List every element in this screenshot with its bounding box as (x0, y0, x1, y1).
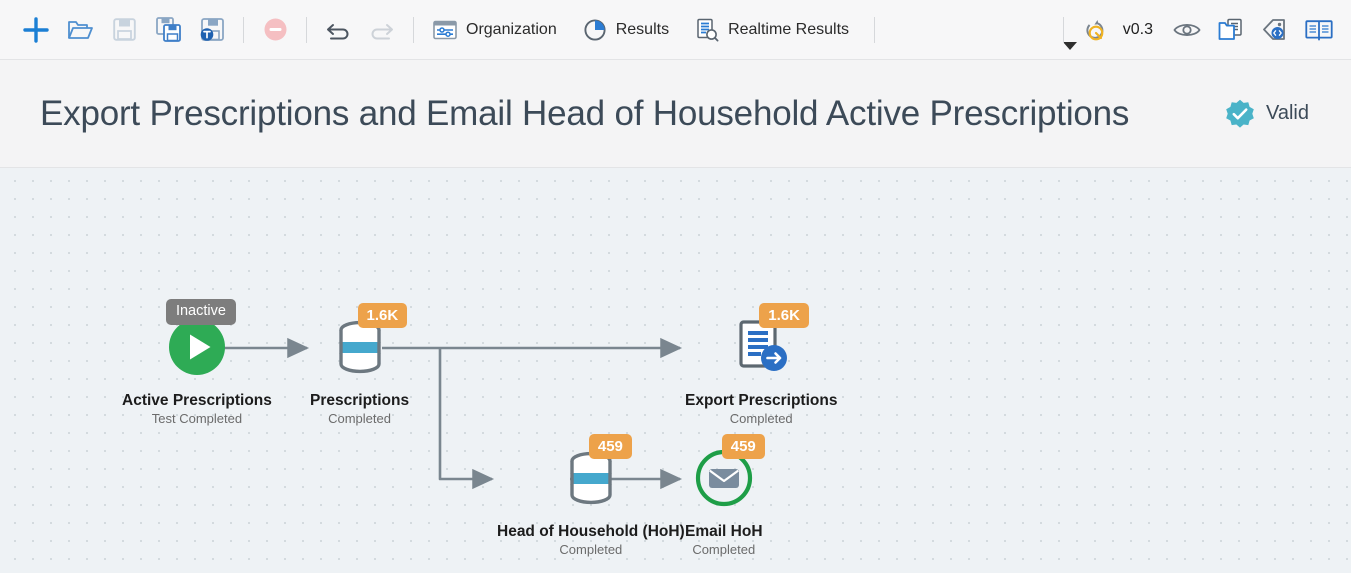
node-status: Completed (692, 542, 755, 557)
node-status: Completed (559, 542, 622, 557)
count-badge: 459 (722, 434, 765, 459)
count-badge: 1.6K (358, 303, 408, 328)
toolbar-right-group: v0.3 (1054, 0, 1341, 60)
menu-item-realtime-results-label: Realtime Results (728, 21, 849, 39)
toolbar-divider-5 (1063, 17, 1064, 43)
version-label: v0.3 (1123, 21, 1153, 39)
file-tool-group (14, 8, 234, 52)
node-label: Email HoH (685, 523, 763, 541)
save-button[interactable] (102, 8, 146, 52)
documents-button[interactable] (1209, 8, 1253, 52)
page-title: Export Prescriptions and Email Head of H… (40, 94, 1129, 134)
menu-item-results[interactable]: Results (573, 8, 685, 52)
toolbar-divider-2 (306, 17, 307, 43)
menu-item-organization-label: Organization (466, 21, 557, 39)
play-button-icon (166, 316, 228, 378)
open-folder-icon (67, 18, 93, 42)
node-label: Head of Household (HoH) (497, 523, 685, 541)
count-badge: 459 (589, 434, 632, 459)
organization-icon (433, 20, 457, 40)
history-icon (1082, 18, 1108, 42)
workflow-canvas[interactable]: Inactive Active Prescriptions Test Compl… (0, 168, 1351, 573)
redo-button[interactable] (360, 8, 404, 52)
node-active-prescriptions[interactable]: Inactive Active Prescriptions Test Compl… (122, 311, 272, 426)
node-icon-wrapper: 459 (555, 442, 627, 514)
undo-button[interactable] (316, 8, 360, 52)
tag-code-icon (1262, 18, 1288, 42)
book-icon (1305, 19, 1333, 41)
node-email-hoh[interactable]: 459 Email HoH Completed (685, 442, 763, 557)
realtime-results-icon (695, 18, 719, 42)
delete-icon (263, 17, 288, 42)
documentation-button[interactable] (1297, 8, 1341, 52)
undo-icon (324, 18, 352, 42)
status-badge-label: Valid (1266, 102, 1309, 125)
node-label: Active Prescriptions (122, 392, 272, 410)
menu-item-organization[interactable]: Organization (423, 8, 573, 52)
page-header: Export Prescriptions and Email Head of H… (0, 60, 1351, 168)
node-status: Completed (328, 411, 391, 426)
add-icon (23, 17, 49, 43)
eye-icon (1173, 20, 1201, 40)
toolbar-divider-3 (413, 17, 414, 43)
delete-button[interactable] (253, 8, 297, 52)
tag-code-button[interactable] (1253, 8, 1297, 52)
count-badge: 1.6K (759, 303, 809, 328)
menu-item-results-label: Results (616, 21, 669, 39)
node-icon-wrapper: 1.6K (324, 311, 396, 383)
save-template-icon (200, 17, 225, 42)
menu-item-realtime-results[interactable]: Realtime Results (685, 8, 865, 52)
add-button[interactable] (14, 8, 58, 52)
node-status: Completed (730, 411, 793, 426)
pie-chart-icon (583, 18, 607, 42)
main-toolbar: Organization Results Realtime Results (0, 0, 1351, 60)
node-prescriptions[interactable]: 1.6K Prescriptions Completed (310, 311, 409, 426)
save-icon (113, 18, 136, 41)
toolbar-divider-4 (874, 17, 875, 43)
node-icon-wrapper: 459 (688, 442, 760, 514)
folder-document-icon (1218, 18, 1244, 42)
save-copy-button[interactable] (146, 8, 190, 52)
verified-check-icon (1225, 99, 1255, 129)
node-label: Prescriptions (310, 392, 409, 410)
node-label: Export Prescriptions (685, 392, 837, 410)
node-export-prescriptions[interactable]: 1.6K Export Prescriptions Completed (685, 311, 837, 426)
node-head-of-household[interactable]: 459 Head of Household (HoH) Completed (497, 442, 685, 557)
node-icon-wrapper: Inactive (161, 311, 233, 383)
toolbar-divider-1 (243, 17, 244, 43)
node-icon-wrapper: 1.6K (725, 311, 797, 383)
save-template-button[interactable] (190, 8, 234, 52)
redo-icon (368, 18, 396, 42)
status-badge: Valid (1225, 99, 1309, 129)
state-badge: Inactive (166, 299, 236, 325)
node-status: Test Completed (152, 411, 242, 426)
save-copy-icon (156, 17, 181, 42)
version-history-button[interactable] (1073, 8, 1117, 52)
open-button[interactable] (58, 8, 102, 52)
preview-button[interactable] (1165, 8, 1209, 52)
